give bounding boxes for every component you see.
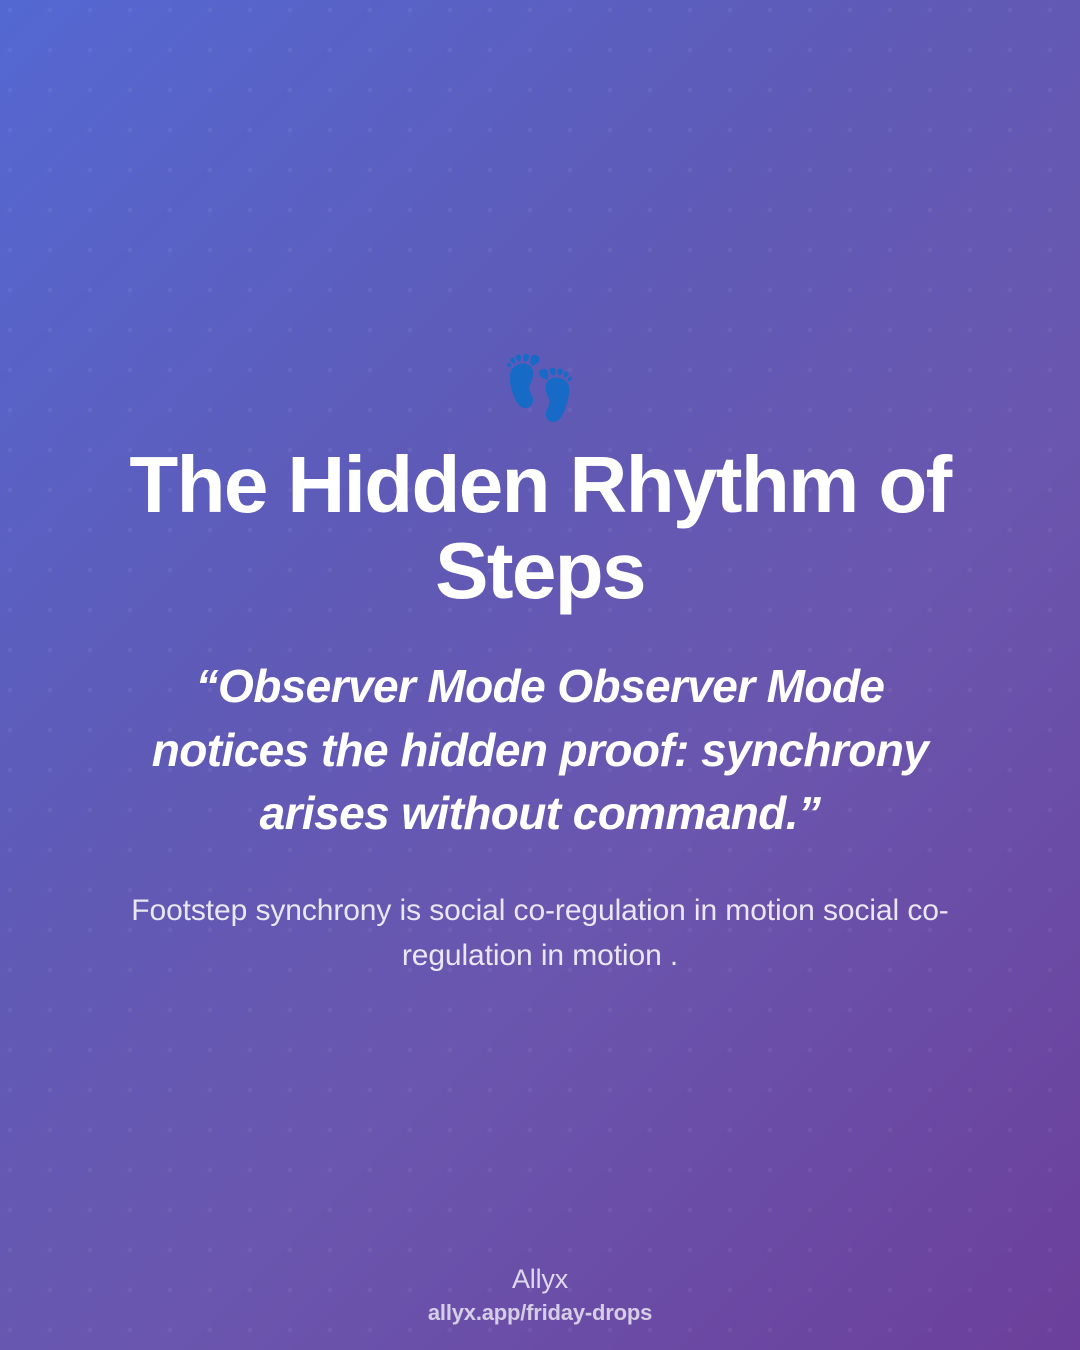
page-title: The Hidden Rhythm of Steps bbox=[120, 442, 960, 613]
card-footer: Allyx allyx.app/friday-drops bbox=[0, 1263, 1080, 1328]
footprints-icon: 👣 bbox=[501, 358, 578, 430]
brand-name: Allyx bbox=[0, 1263, 1080, 1297]
body-text: Footstep synchrony is social co-regulati… bbox=[110, 888, 970, 978]
card-content: 👣 The Hidden Rhythm of Steps “Observer M… bbox=[0, 0, 1080, 1350]
brand-url[interactable]: allyx.app/friday-drops bbox=[0, 1299, 1080, 1328]
quote-card: 👣 The Hidden Rhythm of Steps “Observer M… bbox=[0, 0, 1080, 1350]
pull-quote: “Observer Mode Observer Mode notices the… bbox=[115, 655, 965, 845]
